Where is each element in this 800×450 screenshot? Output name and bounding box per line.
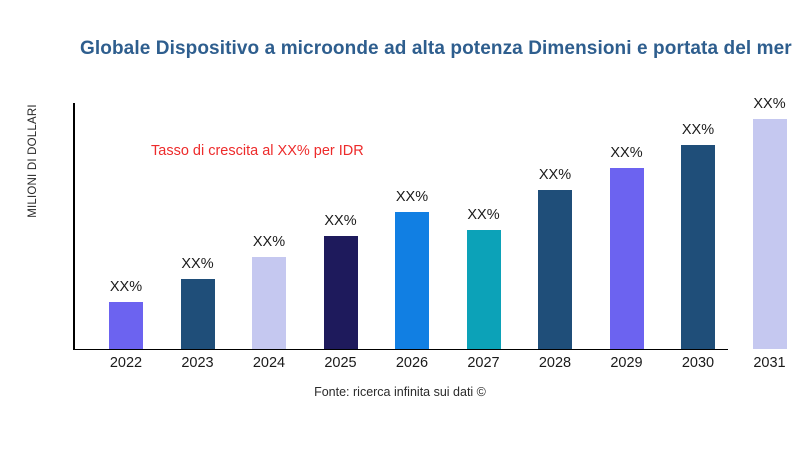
bars-layer: XX%2022XX%2023XX%2024XX%2025XX%2026XX%20… (0, 0, 800, 450)
bar-2031[interactable] (753, 119, 787, 349)
x-tick-2024: 2024 (229, 355, 309, 371)
bar-value-label-2029: XX% (592, 145, 662, 161)
x-tick-2027: 2027 (444, 355, 524, 371)
bar-2029[interactable] (610, 168, 644, 349)
bar-2027[interactable] (467, 230, 501, 349)
bar-value-label-2031: XX% (735, 96, 800, 112)
bar-2024[interactable] (252, 257, 286, 349)
x-tick-2031: 2031 (730, 355, 800, 371)
bar-2025[interactable] (324, 236, 358, 349)
x-tick-2030: 2030 (658, 355, 738, 371)
bar-value-label-2025: XX% (306, 213, 376, 229)
bar-value-label-2023: XX% (163, 256, 233, 272)
chart-screenshot: Globale Dispositivo a microonde ad alta … (0, 0, 800, 450)
bar-value-label-2026: XX% (377, 189, 447, 205)
bar-2028[interactable] (538, 190, 572, 349)
x-tick-2028: 2028 (515, 355, 595, 371)
bar-value-label-2024: XX% (234, 234, 304, 250)
bar-2026[interactable] (395, 212, 429, 349)
x-tick-2029: 2029 (587, 355, 667, 371)
bar-2030[interactable] (681, 145, 715, 349)
bar-value-label-2022: XX% (91, 279, 161, 295)
bar-2023[interactable] (181, 279, 215, 349)
x-tick-2026: 2026 (372, 355, 452, 371)
source-note: Fonte: ricerca infinita sui dati © (0, 385, 800, 399)
bar-value-label-2027: XX% (449, 207, 519, 223)
bar-2022[interactable] (109, 302, 143, 349)
bar-value-label-2030: XX% (663, 122, 733, 138)
x-tick-2025: 2025 (301, 355, 381, 371)
x-tick-2022: 2022 (86, 355, 166, 371)
bar-value-label-2028: XX% (520, 167, 590, 183)
x-tick-2023: 2023 (158, 355, 238, 371)
